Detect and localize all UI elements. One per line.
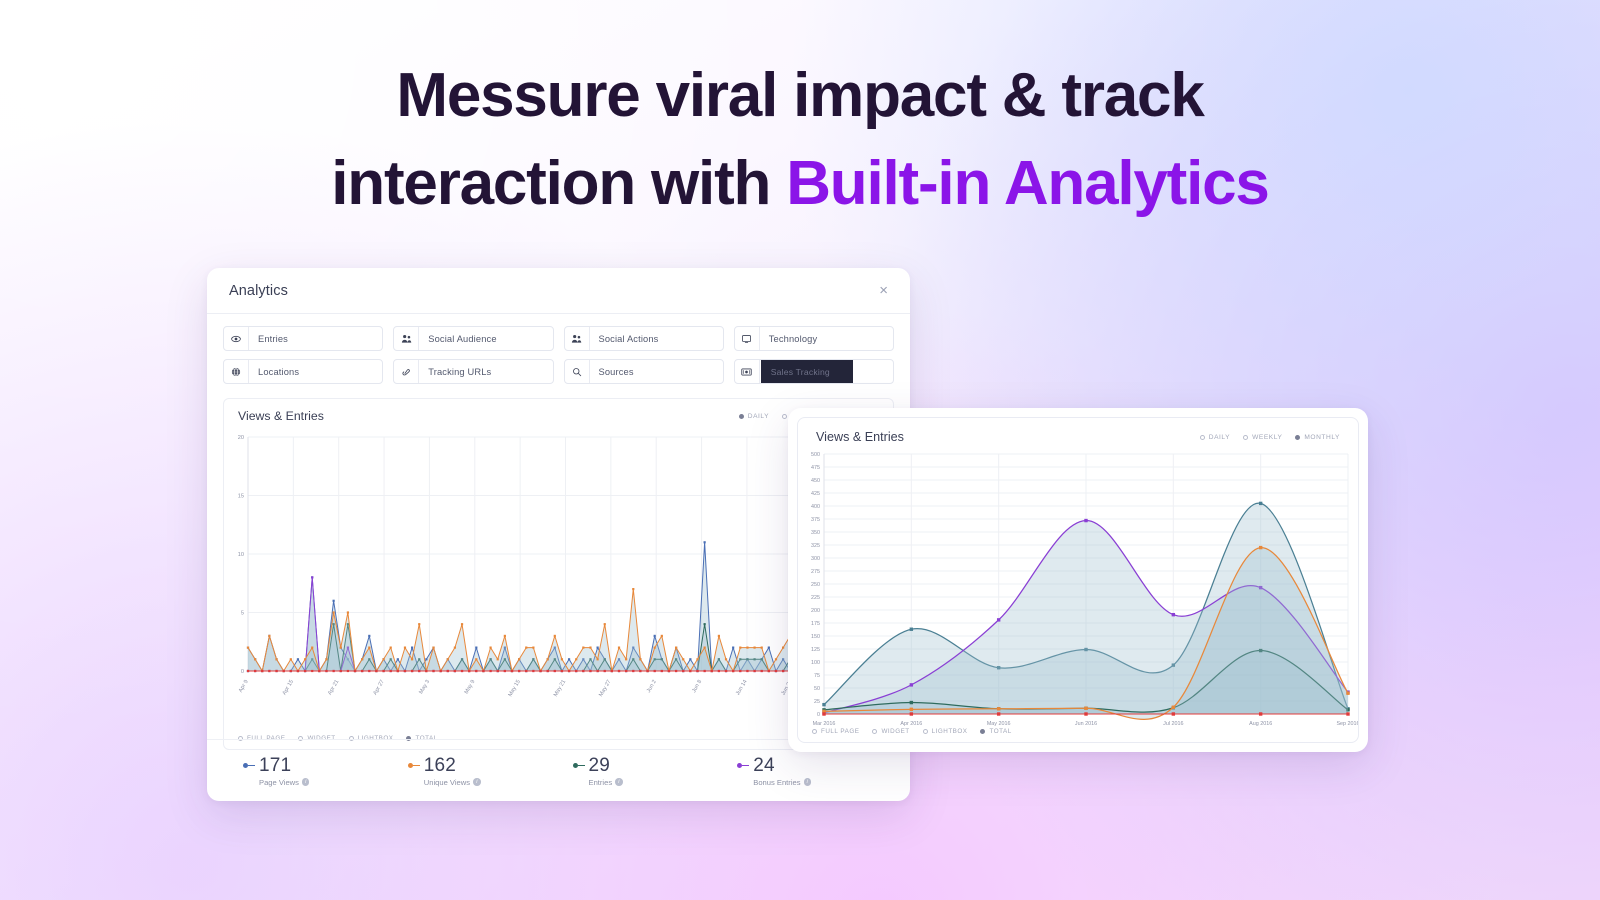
stat-bonus-entries: 24 Bonus Entriesi [723, 755, 888, 787]
radio-dot-icon [739, 414, 744, 419]
svg-text:175: 175 [811, 621, 820, 627]
legend-label: FULL PAGE [821, 728, 859, 735]
monthly-chart-card: Views & Entries DAILY WEEKLY MONTHLY 025… [788, 408, 1368, 752]
monthly-range-radios: DAILY WEEKLY MONTHLY [1200, 434, 1340, 441]
range-weekly[interactable]: WEEKLY [1243, 434, 1282, 441]
radio-dot-icon [980, 729, 985, 734]
svg-text:150: 150 [811, 634, 820, 640]
people-icon [394, 327, 419, 350]
tile-technology[interactable]: Technology [734, 326, 894, 351]
svg-text:75: 75 [814, 673, 820, 679]
svg-text:225: 225 [811, 595, 820, 601]
modal-title: Analytics [229, 283, 288, 299]
analytics-tiles: Entries Social Audience Social Actions T… [207, 314, 910, 392]
legend-lightbox[interactable]: LIGHTBOX [923, 728, 968, 735]
stat-label-row: Page Viewsi [243, 778, 394, 787]
svg-text:Apr 2016: Apr 2016 [900, 721, 922, 727]
headline-line-2: interaction with Built-in Analytics [0, 140, 1600, 228]
radio-dot-icon [812, 729, 817, 734]
svg-text:Jun 2016: Jun 2016 [1075, 721, 1097, 727]
tile-social-actions[interactable]: Social Actions [564, 326, 724, 351]
svg-text:275: 275 [811, 569, 820, 575]
svg-text:Jul 2016: Jul 2016 [1163, 721, 1183, 727]
tile-label: Technology [760, 334, 818, 344]
info-icon[interactable]: i [804, 778, 812, 786]
svg-text:Mar 2016: Mar 2016 [813, 721, 836, 727]
radio-dot-icon [923, 729, 928, 734]
svg-text:125: 125 [811, 647, 820, 653]
range-daily[interactable]: DAILY [1200, 434, 1230, 441]
svg-text:Apr 27: Apr 27 [372, 679, 385, 696]
svg-text:Jun 8: Jun 8 [691, 679, 703, 694]
svg-text:Jun 2: Jun 2 [646, 679, 658, 694]
monthly-chart-plot: 0255075100125150175200225250275300325350… [798, 446, 1358, 738]
sales-tracking-tooltip: Sales Tracking [761, 360, 853, 383]
svg-text:425: 425 [811, 491, 820, 497]
tile-entries[interactable]: Entries [223, 326, 383, 351]
tile-sales-tracking[interactable]: Sales Tracking Sales Tracking [734, 359, 894, 384]
range-label: MONTHLY [1304, 434, 1340, 441]
people-icon [565, 327, 590, 350]
eye-icon [224, 327, 249, 350]
legend-full-page[interactable]: FULL PAGE [812, 728, 859, 735]
radio-dot-icon [1295, 435, 1300, 440]
legend-label: WIDGET [881, 728, 909, 735]
stat-label-row: Entriesi [573, 778, 724, 787]
legend-label: LIGHTBOX [932, 728, 968, 735]
legend-widget[interactable]: WIDGET [872, 728, 909, 735]
svg-text:375: 375 [811, 517, 820, 523]
stat-value-row: 24 [737, 755, 888, 777]
stat-value: 29 [589, 755, 611, 777]
tile-label: Sources [590, 367, 634, 377]
series-marker-icon [573, 763, 585, 768]
stat-label: Page Views [259, 778, 299, 787]
svg-text:325: 325 [811, 543, 820, 549]
stat-value-row: 162 [408, 755, 559, 777]
stat-label: Bonus Entries [753, 778, 800, 787]
link-icon [394, 360, 419, 383]
range-monthly[interactable]: MONTHLY [1295, 434, 1340, 441]
globe-icon [224, 360, 249, 383]
svg-text:May 9: May 9 [464, 679, 477, 695]
headline-line-1: Messure viral impact & track [0, 52, 1600, 140]
monthly-panel-header: Views & Entries DAILY WEEKLY MONTHLY [798, 418, 1358, 448]
svg-text:475: 475 [811, 465, 820, 471]
stat-label: Entries [589, 778, 613, 787]
tile-locations[interactable]: Locations [223, 359, 383, 384]
page-title: Messure viral impact & track interaction… [0, 52, 1600, 228]
monthly-footer-legend: FULL PAGE WIDGET LIGHTBOX TOTAL [812, 728, 1012, 735]
svg-text:May 2016: May 2016 [987, 721, 1011, 727]
search-icon [565, 360, 590, 383]
stat-value: 24 [753, 755, 775, 777]
svg-text:50: 50 [814, 686, 820, 692]
series-marker-icon [408, 763, 420, 768]
svg-text:May 21: May 21 [553, 679, 567, 698]
svg-text:Jun 14: Jun 14 [735, 679, 749, 697]
tile-label: Social Actions [590, 334, 659, 344]
tooltip-label: Sales Tracking [771, 367, 830, 377]
stat-value-row: 29 [573, 755, 724, 777]
svg-text:Apr 15: Apr 15 [282, 679, 295, 696]
range-daily[interactable]: DAILY [739, 413, 769, 420]
series-marker-icon [243, 763, 255, 768]
svg-text:Aug 2016: Aug 2016 [1249, 721, 1272, 727]
monitor-icon [735, 327, 760, 350]
tile-label: Locations [249, 367, 299, 377]
radio-dot-icon [1200, 435, 1205, 440]
radio-dot-icon [782, 414, 787, 419]
legend-total[interactable]: TOTAL [980, 728, 1011, 735]
svg-text:Apr 21: Apr 21 [327, 679, 340, 696]
svg-text:5: 5 [241, 611, 244, 617]
svg-text:10: 10 [238, 552, 244, 558]
svg-text:25: 25 [814, 699, 820, 705]
stat-value: 171 [259, 755, 291, 777]
svg-text:350: 350 [811, 530, 820, 536]
radio-dot-icon [1243, 435, 1248, 440]
tile-label: Tracking URLs [419, 367, 491, 377]
tile-label: Social Audience [419, 334, 496, 344]
svg-text:15: 15 [238, 494, 244, 500]
stat-label-row: Bonus Entriesi [737, 778, 888, 787]
info-icon[interactable]: i [615, 778, 623, 786]
stat-label: Unique Views [424, 778, 470, 787]
info-icon[interactable]: i [302, 778, 310, 786]
series-marker-icon [737, 763, 749, 768]
svg-text:Apr 9: Apr 9 [238, 679, 250, 694]
range-label: DAILY [1209, 434, 1230, 441]
svg-text:250: 250 [811, 582, 820, 588]
tile-label: Entries [249, 334, 288, 344]
svg-text:20: 20 [238, 435, 244, 441]
tile-tracking-urls[interactable]: Tracking URLs [393, 359, 553, 384]
close-icon[interactable]: × [879, 283, 888, 298]
svg-text:450: 450 [811, 478, 820, 484]
stat-value: 162 [424, 755, 456, 777]
stat-label-row: Unique Viewsi [408, 778, 559, 787]
tile-social-audience[interactable]: Social Audience [393, 326, 553, 351]
svg-text:200: 200 [811, 608, 820, 614]
stat-unique-views: 162 Unique Viewsi [394, 755, 559, 787]
headline-plain: interaction with [331, 149, 786, 218]
monthly-panel-title: Views & Entries [816, 430, 904, 444]
daily-panel-title: Views & Entries [238, 409, 324, 423]
svg-text:500: 500 [811, 452, 820, 458]
svg-text:100: 100 [811, 660, 820, 666]
range-label: DAILY [748, 413, 769, 420]
svg-text:Sep 2016: Sep 2016 [1336, 721, 1358, 727]
stat-page-views: 171 Page Viewsi [229, 755, 394, 787]
stat-value-row: 171 [243, 755, 394, 777]
svg-text:300: 300 [811, 556, 820, 562]
headline-accent: Built-in Analytics [786, 149, 1268, 218]
svg-text:0: 0 [241, 669, 244, 675]
svg-text:0: 0 [817, 712, 820, 718]
tile-sources[interactable]: Sources [564, 359, 724, 384]
svg-text:May 27: May 27 [598, 679, 612, 698]
svg-text:400: 400 [811, 504, 820, 510]
range-label: WEEKLY [1252, 434, 1282, 441]
money-icon [735, 360, 760, 383]
modal-header: Analytics × [207, 268, 910, 314]
stat-entries: 29 Entriesi [559, 755, 724, 787]
svg-text:May 3: May 3 [418, 679, 431, 695]
legend-label: TOTAL [989, 728, 1011, 735]
monthly-card-inner: Views & Entries DAILY WEEKLY MONTHLY 025… [797, 417, 1359, 743]
radio-dot-icon [872, 729, 877, 734]
svg-text:May 15: May 15 [508, 679, 522, 698]
info-icon[interactable]: i [473, 778, 481, 786]
